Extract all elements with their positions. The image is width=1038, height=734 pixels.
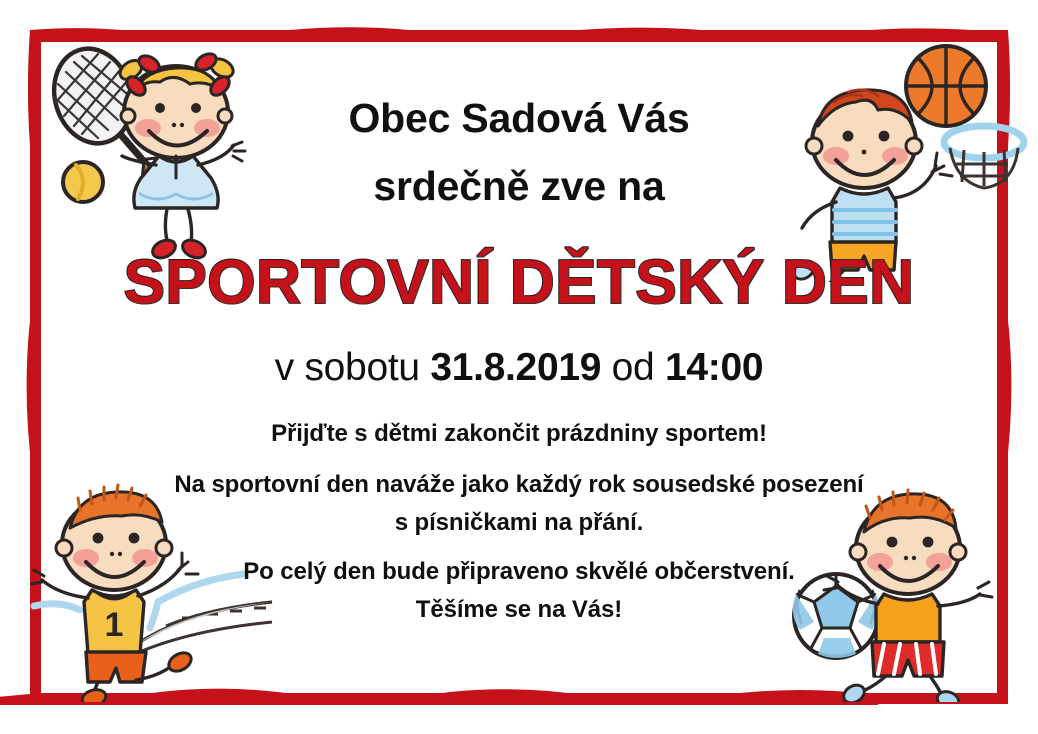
time-value: 14:00 [665,346,763,389]
body-line-3: s písničkami na přání. [0,511,1038,535]
body-line-2: Na sportovní den naváže jako každý rok s… [0,473,1038,497]
headline-line-1: Obec Sadová Vás [0,98,1038,139]
poster-main-title: SPORTOVNÍ DĚTSKÝ DEN [0,252,1038,314]
date-middle: od [612,346,655,389]
poster-text-layer: Obec Sadová Vás srdečně zve na SPORTOVNÍ… [0,0,1038,734]
body-line-5: Těšíme se na Vás! [0,598,1038,622]
date-prefix: v sobotu [275,346,420,389]
body-line-1: Přijďte s dětmi zakončit prázdniny sport… [0,422,1038,446]
body-line-4: Po celý den bude připraveno skvělé občer… [0,560,1038,584]
poster-canvas: 1 [0,0,1038,734]
headline-line-2: srdečně zve na [0,166,1038,207]
event-date-line: v sobotu 31.8.2019 od 14:00 [0,348,1038,387]
date-value: 31.8.2019 [430,346,601,389]
